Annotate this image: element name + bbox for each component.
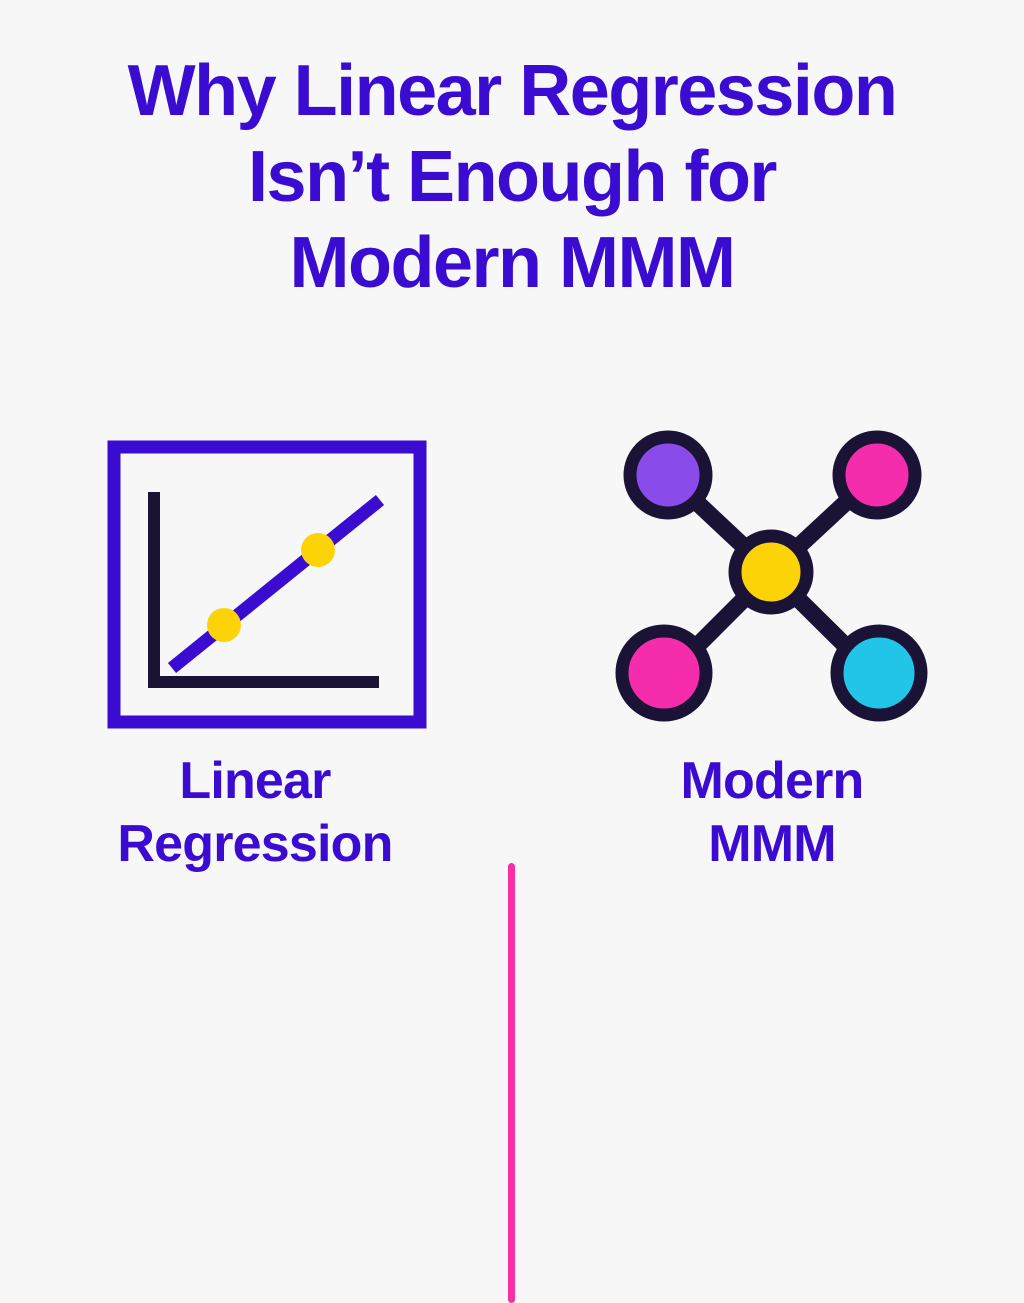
modern-mmm-art bbox=[552, 420, 992, 730]
title-line-1: Why Linear Regression bbox=[0, 48, 1024, 134]
caption-line-1: Linear bbox=[35, 750, 475, 813]
comparison-panel-linear-regression: Linear Regression bbox=[35, 420, 475, 920]
comparison-panel-modern-mmm: Modern MMM bbox=[552, 420, 992, 920]
linear-regression-chart-icon bbox=[35, 420, 475, 730]
modern-mmm-caption: Modern MMM bbox=[552, 750, 992, 876]
chart-trendline bbox=[172, 500, 380, 668]
comparison-section: Linear Regression bbox=[0, 420, 1024, 920]
chart-data-point bbox=[301, 533, 335, 567]
network-node-bottom-left bbox=[622, 631, 706, 715]
network-node-center bbox=[735, 536, 807, 608]
chart-data-point bbox=[207, 608, 241, 642]
title-line-3: Modern MMM bbox=[0, 220, 1024, 306]
linear-regression-caption: Linear Regression bbox=[35, 750, 475, 876]
caption-line-2: Regression bbox=[35, 813, 475, 876]
caption-line-1: Modern bbox=[552, 750, 992, 813]
vertical-divider bbox=[508, 863, 515, 1303]
network-node-top-right bbox=[839, 437, 915, 513]
title-line-2: Isn’t Enough for bbox=[0, 134, 1024, 220]
network-nodes-icon bbox=[552, 420, 992, 730]
caption-line-2: MMM bbox=[552, 813, 992, 876]
network-node-bottom-right bbox=[837, 631, 921, 715]
page-title: Why Linear Regression Isn’t Enough for M… bbox=[0, 48, 1024, 306]
network-node-top-left bbox=[630, 437, 706, 513]
infographic-page: Why Linear Regression Isn’t Enough for M… bbox=[0, 0, 1024, 1024]
linear-regression-art bbox=[35, 420, 475, 730]
